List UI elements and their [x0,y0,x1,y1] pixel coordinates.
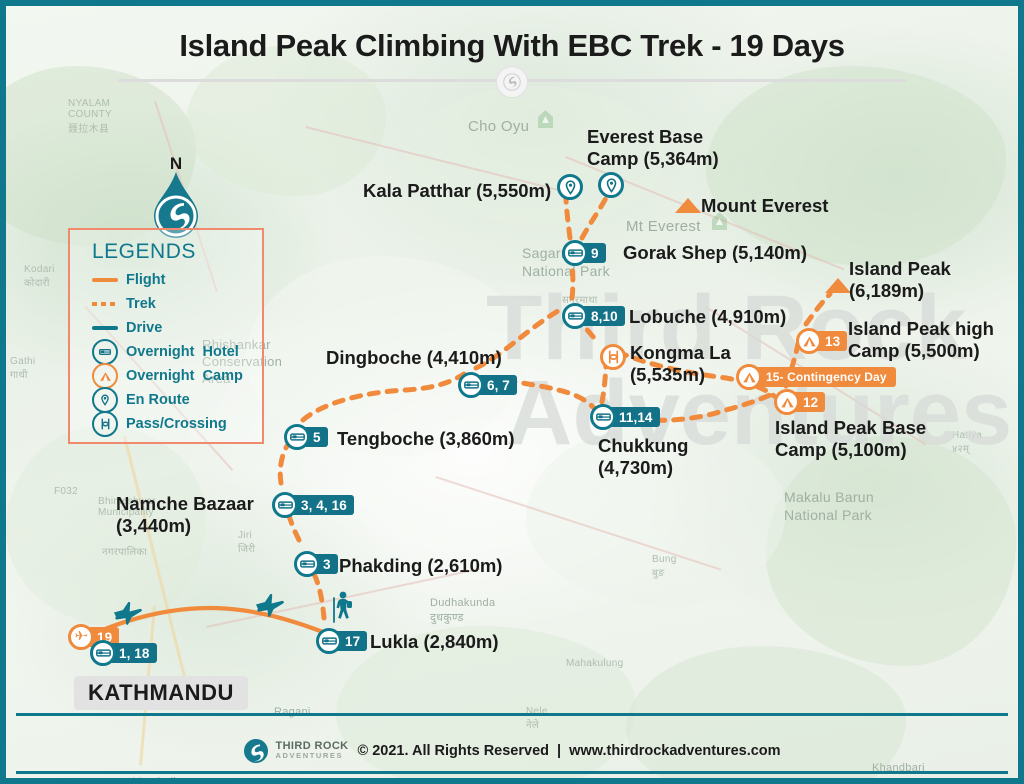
place-label-island-peak-base-camp: Island Peak Base Camp (5,100m) [775,417,926,461]
trekker-icon [326,590,358,626]
map-label: Mahakulung [566,658,623,669]
place-label-chukkung: Chukkung (4,730m) [598,435,688,479]
tent-icon [774,389,800,415]
footer-copyright: © 2021. All Rights Reserved | www.thirdr… [358,743,781,759]
footer-brand: THIRD ROCK ADVENTURES [275,742,348,760]
footer-divider-top [16,713,1008,716]
bed-icon [294,551,320,577]
map-label: Nele नेले [526,706,548,731]
poster-root: NYALAM COUNTY 聂拉木县 Cho Oyu Mt Everest Sa… [0,0,1024,784]
compass-north-label: N [144,154,208,174]
footer-brand-line1: THIRD ROCK [275,742,348,751]
map-label: Bung बुङ [652,554,677,579]
map-label: नगरपालिका [102,544,147,558]
page-title: Island Peak Climbing With EBC Trek - 19 … [6,28,1018,64]
legend-item-trek: Trek [70,292,262,316]
bed-icon [90,640,116,666]
legend-title: LEGENDS [70,230,262,268]
marker-kala-patthar-enroute[interactable] [557,174,583,200]
peak-label-mount-everest: Mount Everest [701,195,828,217]
place-label-phakding: Phakding (2,610m) [339,555,502,577]
place-label-everest-base-camp: Everest Base Camp (5,364m) [587,126,719,170]
footer-logo: THIRD ROCK ADVENTURES [243,738,348,764]
tent-icon [84,363,126,389]
pass-icon [600,344,626,370]
marker-gorak-shep-hotel[interactable]: 9 [562,240,606,266]
bed-icon [84,339,126,365]
legend-box: LEGENDS Flight Trek Drive Overnight Hote… [68,228,264,444]
terrain-blob [766,436,1016,666]
legend-item-overnight-camp: Overnight Camp [70,364,262,388]
bed-icon [562,303,588,329]
tent-icon [796,328,822,354]
pass-icon [84,411,126,437]
tent-icon [736,364,762,390]
place-label-lobuche: Lobuche (4,910m) [629,306,786,328]
kathmandu-city-label: KATHMANDU [74,676,248,710]
place-label-gorak-shep: Gorak Shep (5,140m) [623,242,807,264]
legend-item-label: Trek [126,296,156,312]
map-label: Mt Everest [626,218,701,235]
map-label: Manthali [132,776,176,778]
legend-item-label: Pass/Crossing [126,416,227,432]
marker-lobuche-hotel[interactable]: 8,10 [562,303,625,329]
footer-divider-bottom [16,771,1008,774]
pin-icon [557,174,583,200]
marker-kongma-la-pass[interactable] [600,344,626,370]
map-label: Cho Oyu [468,118,529,135]
place-label-tengboche: Tengboche (3,860m) [337,428,515,450]
legend-item-label: Overnight Hotel [126,344,239,360]
place-label-namche-bazaar: Namche Bazaar (3,440m) [116,493,254,537]
marker-island-peak-base-camp[interactable]: 12 [774,389,825,415]
map-label: Dudhakunda दुधकुण्ड [430,596,495,626]
marker-days-badge: 15- Contingency Day [754,367,896,387]
peak-label-island-peak: Island Peak (6,189m) [849,258,951,302]
marker-kathmandu-hotel[interactable]: 1, 18 [90,640,157,666]
map-label: Makalu Barun National Park [784,488,874,524]
place-label-kongma-la: Kongma La (5,535m) [630,342,731,386]
place-label-dingboche: Dingboche (4,410m) [326,347,502,369]
island-peak-icon [825,278,851,293]
drive-line-icon [84,326,126,330]
third-rock-globe-icon [496,66,528,98]
trek-line-icon [84,302,126,306]
airplane-icon [112,602,146,626]
flight-line-icon [84,278,126,282]
map-label: NYALAM COUNTY 聂拉木县 [68,98,112,135]
legend-item-overnight-hotel: Overnight Hotel [70,340,262,364]
legend-item-flight: Flight [70,268,262,292]
terrain-blob [186,46,386,196]
legend-item-label: En Route [126,392,190,408]
legend-item-label: Overnight Camp [126,368,243,384]
place-label-lukla: Lukla (2,840m) [370,631,499,653]
marker-tengboche-hotel[interactable]: 5 [284,424,328,450]
marker-namche-bazaar-hotel[interactable]: 3, 4, 16 [272,492,354,518]
airplane-icon [254,594,288,618]
bed-icon [316,628,342,654]
marker-days-badge: 3, 4, 16 [290,495,354,515]
footer-brand-line2: ADVENTURES [275,751,348,760]
place-label-kala-patthar: Kala Patthar (5,550m) [363,180,551,202]
legend-item-pass-crossing: Pass/Crossing [70,412,262,436]
marker-lukla-hotel[interactable]: 17 [316,628,367,654]
bed-icon [590,404,616,430]
third-rock-globe-icon [243,738,269,764]
marker-everest-base-camp-enroute[interactable] [598,172,624,198]
bed-icon [272,492,298,518]
map-label: F032 [54,486,78,497]
marker-phakding-hotel[interactable]: 3 [294,551,338,577]
marker-contingency-day-camp[interactable]: 15- Contingency Day [736,364,896,390]
map-label: Ragani [274,706,311,718]
marker-island-peak-high-camp[interactable]: 13 [796,328,847,354]
pin-icon [598,172,624,198]
legend-item-en-route: En Route [70,388,262,412]
park-marker-icon [538,110,553,128]
legend-item-label: Drive [126,320,162,336]
legend-item-drive: Drive [70,316,262,340]
pin-icon [84,387,126,413]
place-label-island-peak-high-camp: Island Peak high Camp (5,500m) [848,318,994,362]
marker-dingboche-hotel[interactable]: 6, 7 [458,372,517,398]
map-label: Gathi गाथी [10,356,35,381]
marker-chukkung-hotel[interactable]: 11,14 [590,404,660,430]
footer: THIRD ROCK ADVENTURES © 2021. All Rights… [6,738,1018,764]
mount-everest-peak-icon [675,198,701,213]
map-label: Kodari कोदारी [24,264,55,289]
bed-icon [458,372,484,398]
bed-icon [562,240,588,266]
legend-item-label: Flight [126,272,165,288]
airplane-icon [68,624,94,650]
bed-icon [284,424,310,450]
